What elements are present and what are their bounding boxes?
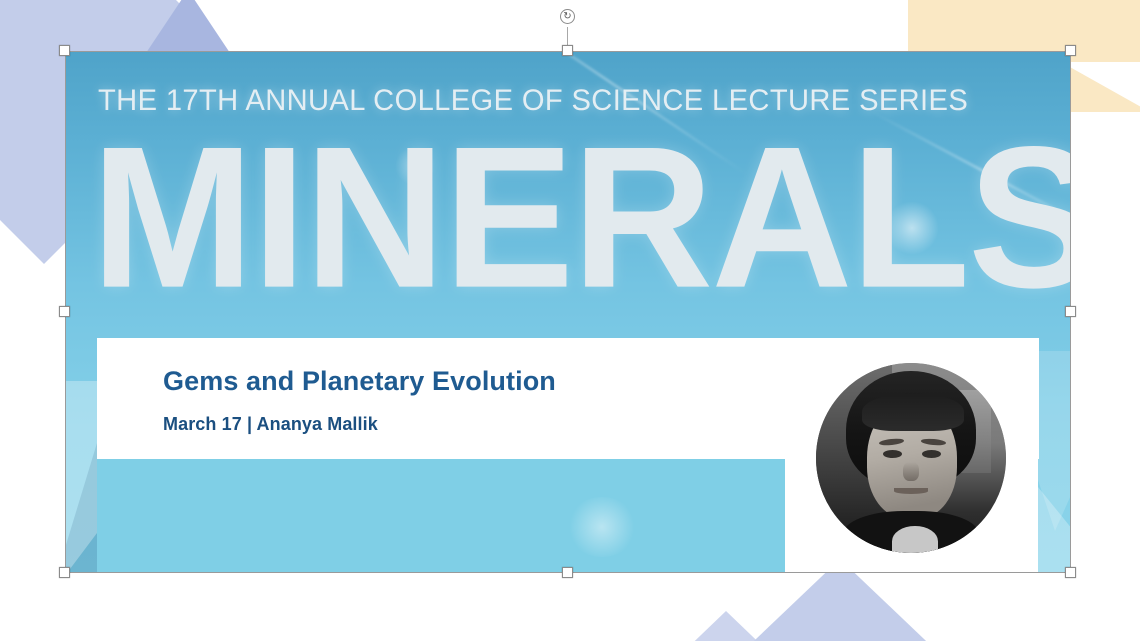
portrait-fringe (862, 393, 965, 431)
resize-handle-middle-left[interactable] (59, 306, 70, 317)
speaker-photo-panel (785, 338, 1038, 573)
resize-handle-top-right[interactable] (1065, 45, 1076, 56)
rotate-handle-stem (567, 27, 568, 46)
slide-editor-canvas[interactable]: THE 17TH ANNUAL COLLEGE OF SCIENCE LECTU… (0, 0, 1140, 641)
portrait-collar (892, 526, 938, 553)
resize-handle-bottom-right[interactable] (1065, 567, 1076, 578)
resize-handle-top-center[interactable] (562, 45, 573, 56)
resize-handle-top-left[interactable] (59, 45, 70, 56)
bar-glow-icon (567, 497, 637, 557)
portrait-nose (903, 462, 918, 481)
rotate-handle-icon[interactable]: ↻ (560, 9, 575, 24)
resize-handle-bottom-left[interactable] (59, 567, 70, 578)
speaker-portrait-avatar (816, 363, 1006, 553)
slide-image[interactable]: THE 17TH ANNUAL COLLEGE OF SCIENCE LECTU… (65, 51, 1071, 573)
talk-date-speaker: March 17 | Ananya Mallik (163, 414, 378, 435)
bottom-accent-bar (97, 459, 785, 573)
slide-wordmark: MINERALS (91, 117, 1071, 318)
talk-title: Gems and Planetary Evolution (163, 366, 556, 397)
resize-handle-middle-right[interactable] (1065, 306, 1076, 317)
selected-image-frame[interactable]: THE 17TH ANNUAL COLLEGE OF SCIENCE LECTU… (65, 51, 1071, 573)
resize-handle-bottom-center[interactable] (562, 567, 573, 578)
